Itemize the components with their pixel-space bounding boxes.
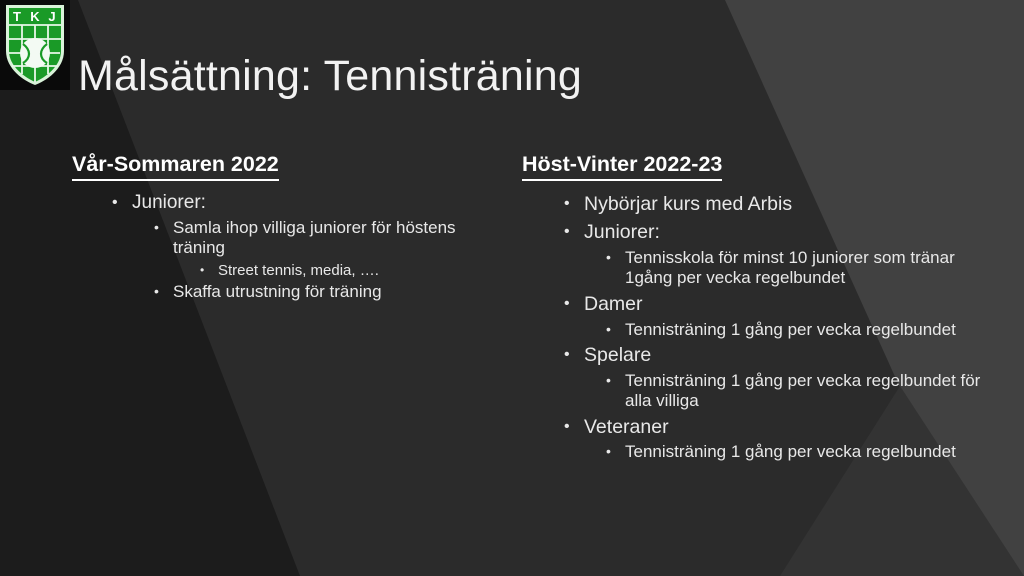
bullet-icon: • <box>564 220 584 243</box>
bullet-list-spring-summer: • Juniorer: • Samla ihop villiga juniore… <box>72 191 512 303</box>
bullet-icon: • <box>200 262 218 279</box>
list-item-label: Tennisskola för minst 10 juniorer som tr… <box>625 248 992 289</box>
list-item: • Spelare <box>564 343 992 368</box>
list-item-label: Street tennis, media, …. <box>218 262 512 280</box>
bullet-icon: • <box>564 192 584 215</box>
club-logo-panel: T K J <box>0 0 70 90</box>
bullet-icon: • <box>154 218 173 238</box>
list-item: • Nybörjar kurs med Arbis <box>564 192 992 217</box>
bullet-icon: • <box>606 248 625 268</box>
presentation-slide: T K J Målsättning: Tennisträning Vår-Som… <box>0 0 1024 576</box>
column-heading-autumn-winter: Höst-Vinter 2022-23 <box>522 152 722 181</box>
list-item-label: Tennisträning 1 gång per vecka regelbund… <box>625 320 992 341</box>
list-item-label: Tennisträning 1 gång per vecka regelbund… <box>625 442 992 463</box>
list-item-label: Nybörjar kurs med Arbis <box>584 192 992 217</box>
list-item: • Damer <box>564 292 992 317</box>
list-item-label: Veteraner <box>584 415 992 440</box>
list-item-label: Damer <box>584 292 992 317</box>
svg-text:J: J <box>48 9 55 24</box>
bullet-icon: • <box>564 415 584 438</box>
svg-text:K: K <box>30 9 40 24</box>
list-item: • Tennisträning 1 gång per vecka regelbu… <box>606 442 992 463</box>
bullet-icon: • <box>564 343 584 366</box>
tkj-club-logo-icon: T K J <box>4 3 66 87</box>
bullet-icon: • <box>564 292 584 315</box>
list-item-label: Tennisträning 1 gång per vecka regelbund… <box>625 371 992 412</box>
column-autumn-winter: Höst-Vinter 2022-23 • Nybörjar kurs med … <box>522 152 992 463</box>
list-item-label: Juniorer: <box>132 191 512 216</box>
bullet-icon: • <box>112 191 132 214</box>
list-item: • Samla ihop villiga juniorer för hösten… <box>154 218 512 259</box>
list-item: • Veteraner <box>564 415 992 440</box>
bullet-list-autumn-winter: • Nybörjar kurs med Arbis • Juniorer: • … <box>522 192 992 463</box>
list-item: • Tennisträning 1 gång per vecka regelbu… <box>606 320 992 341</box>
list-item: • Tennisträning 1 gång per vecka regelbu… <box>606 371 992 412</box>
slide-title: Målsättning: Tennisträning <box>78 52 582 101</box>
list-item-label: Juniorer: <box>584 220 992 245</box>
bullet-icon: • <box>154 282 173 302</box>
bullet-icon: • <box>606 320 625 340</box>
list-item-label: Samla ihop villiga juniorer för höstens … <box>173 218 512 259</box>
list-item-label: Skaffa utrustning för träning <box>173 282 512 303</box>
list-item: • Street tennis, media, …. <box>200 262 512 280</box>
column-spring-summer: Vår-Sommaren 2022 • Juniorer: • Samla ih… <box>72 152 512 303</box>
list-item: • Tennisskola för minst 10 juniorer som … <box>606 248 992 289</box>
list-item: • Juniorer: <box>564 220 992 245</box>
column-heading-spring-summer: Vår-Sommaren 2022 <box>72 152 279 181</box>
list-item: • Juniorer: <box>112 191 512 216</box>
bullet-icon: • <box>606 442 625 462</box>
list-item: • Skaffa utrustning för träning <box>154 282 512 303</box>
svg-text:T: T <box>13 9 21 24</box>
list-item-label: Spelare <box>584 343 992 368</box>
bullet-icon: • <box>606 371 625 391</box>
